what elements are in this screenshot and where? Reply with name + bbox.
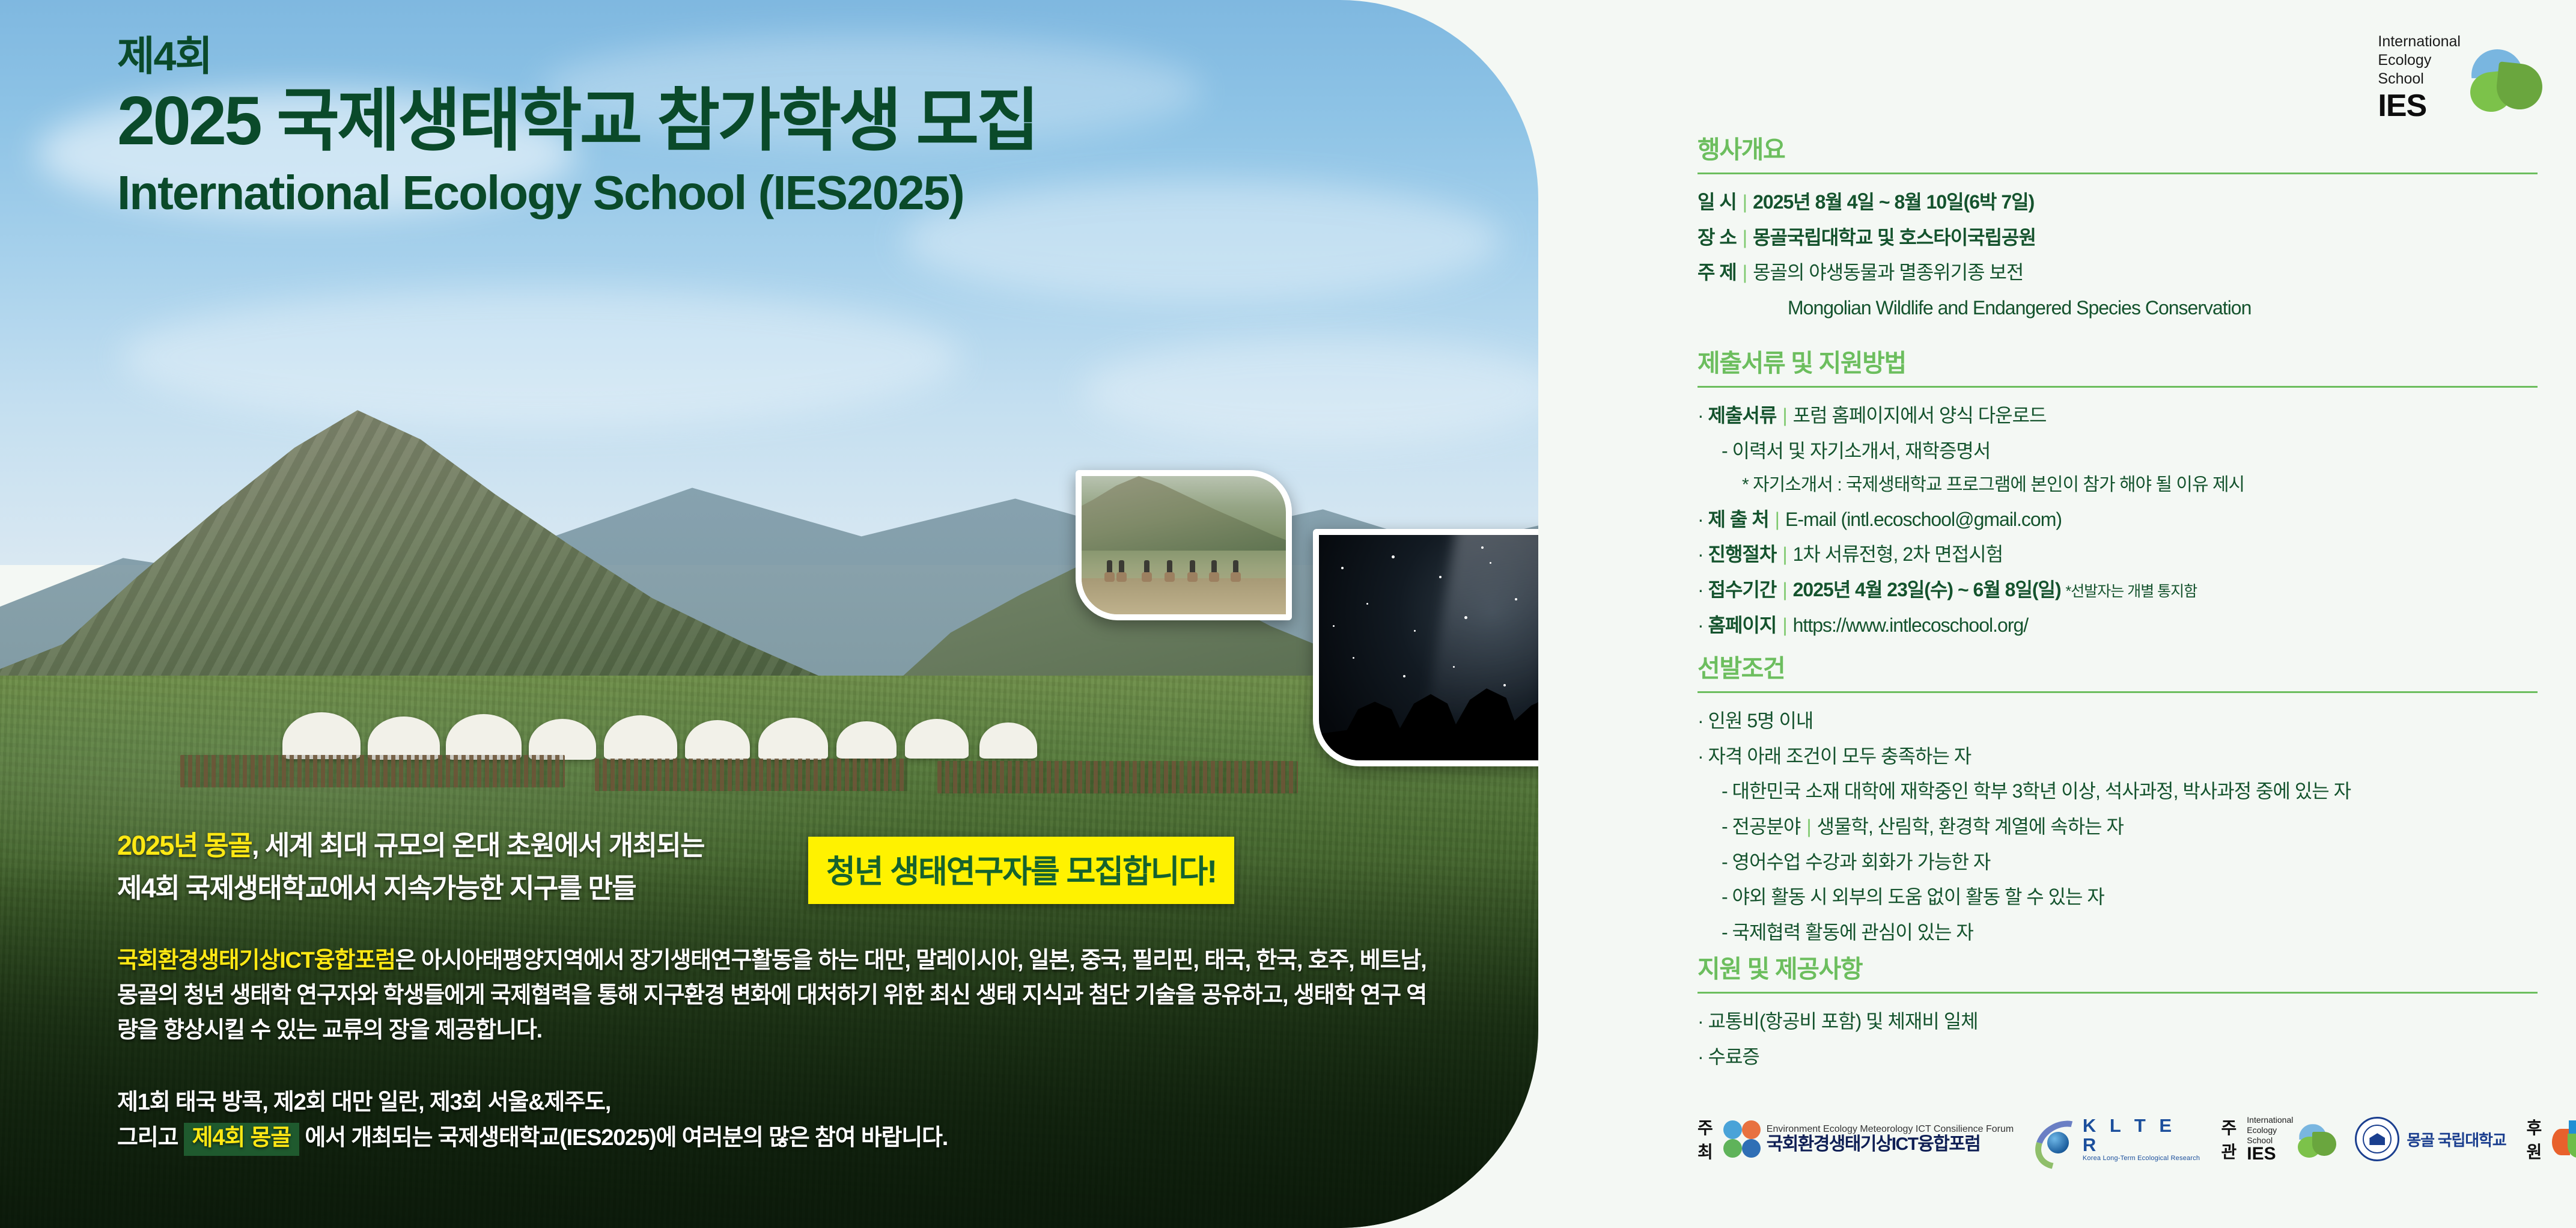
star (1341, 567, 1344, 569)
support-item-certificate: · 수료증 (1698, 1042, 2539, 1072)
footer-label-sponsor: 후원 (2526, 1115, 2541, 1163)
leaf-globe-icon (2297, 1120, 2334, 1158)
overview-label-theme: 주 제 (1698, 261, 1737, 283)
rider-figure (1107, 560, 1112, 578)
star (1403, 675, 1405, 677)
apply-label-submit: 제 출 처 (1708, 509, 1769, 530)
promo-line-2: 제4회 국제생태학교에서 지속가능한 지구를 만들 (117, 866, 1451, 905)
criteria-item-eligibility: · 자격 아래 조건이 모두 충족하는 자 (1698, 742, 2539, 771)
star (1453, 666, 1455, 668)
footer-label-organizer: 주관 (2221, 1115, 2236, 1163)
star (1333, 625, 1335, 627)
rider-figure (1119, 560, 1124, 578)
star (1366, 603, 1368, 605)
ies-footer-abbr: IES (2247, 1145, 2293, 1163)
mnu-name: 몽골 국립대학교 (2407, 1128, 2506, 1150)
forum-circle-icon (1723, 1120, 1761, 1158)
forum-name-english: Environment Ecology Meteorology ICT Cons… (1767, 1124, 2014, 1135)
klter-text: K L T E R Korea Long-Term Ecological Res… (2083, 1116, 2201, 1162)
wooden-fence (937, 761, 1298, 793)
history-paragraph: 제1회 태국 방콕, 제2회 대만 일란, 제3회 서울&제주도, 그리고 제4… (117, 1085, 1427, 1156)
rider-figure (1190, 560, 1195, 578)
star (1481, 546, 1484, 549)
title-edition: 제4회 (117, 36, 1439, 77)
section-title-criteria: 선발조건 (1698, 648, 2539, 684)
title-block: 제4회 2025 국제생태학교 참가학생 모집 International Ec… (117, 36, 1439, 219)
separator: | (1737, 191, 1753, 213)
ies-logo-line1: International (2378, 32, 2461, 51)
star (1490, 562, 1491, 564)
apply-label-documents: 제출서류 (1708, 405, 1777, 426)
section-divider (1698, 173, 2538, 174)
section-title-support: 지원 및 제공사항 (1698, 948, 2539, 985)
star (1414, 630, 1416, 632)
klter-subtitle: Korea Long-Term Ecological Research (2083, 1155, 2201, 1162)
criteria-sub-english: - 영어수업 수강과 회화가 가능한 자 (1698, 848, 2539, 877)
star (1515, 598, 1517, 600)
inset-photo-horseback-riders (1076, 470, 1292, 620)
overview-label-place: 장 소 (1698, 227, 1737, 248)
cloud (1082, 337, 1538, 445)
page-title: 2025 국제생태학교 참가학생 모집 (117, 85, 1439, 158)
criteria-major-label: - 전공분야 (1722, 816, 1800, 837)
ies-footer-line2: Ecology (2247, 1125, 2293, 1135)
edition-chip: 제4회 몽골 (184, 1123, 299, 1156)
separator: | (1737, 227, 1753, 248)
hero-photo-panel: 제4회 2025 국제생태학교 참가학생 모집 International Ec… (0, 0, 1538, 1228)
criteria-item-capacity: · 인원 5명 이내 (1698, 706, 2539, 736)
sponsor-footer: 주최 Environment Ecology Meteorology ICT C… (1698, 1115, 2576, 1163)
logo-mongolia-national-university: 몽골 국립대학교 (2355, 1117, 2506, 1161)
star (1503, 684, 1506, 686)
criteria-sub-cooperation: - 국제협력 활동에 관심이 있는 자 (1698, 918, 2539, 947)
logo-db-insurance: DB손해보험 (2552, 1120, 2576, 1158)
section-apply: 제출서류 및 지원방법 · 제출서류|포럼 홈페이지에서 양식 다운로드 - 이… (1698, 343, 2539, 646)
apply-value-documents: 포럼 홈페이지에서 양식 다운로드 (1793, 405, 2047, 426)
separator: | (1776, 543, 1792, 565)
overview-row-theme: 주 제|몽골의 야생동물과 멸종위기종 보전 (1698, 258, 2539, 287)
apply-period-note: *선발자는 개별 통지함 (2066, 583, 2197, 600)
apply-label-period: 접수기간 (1708, 579, 1777, 600)
overview-row-place: 장 소|몽골국립대학교 및 호스타이국립공원 (1698, 223, 2539, 252)
apply-label-process: 진행절차 (1708, 543, 1777, 565)
promo-line-1-white: , 세계 최대 규모의 온대 초원에서 개최되는 (252, 830, 704, 861)
overview-value-date: 2025년 8월 4일 ~ 8월 10일(6박 7일) (1753, 191, 2034, 213)
info-column: International Ecology School IES 행사개요 일 … (1667, 0, 2576, 1228)
section-title-overview: 행사개요 (1698, 129, 2539, 165)
star (1353, 657, 1354, 659)
leaf-globe-icon (2469, 42, 2539, 112)
apply-row-homepage: · 홈페이지|https://www.intlecoschool.org/ (1698, 611, 2539, 640)
section-divider (1698, 386, 2538, 388)
section-divider (1698, 691, 2538, 693)
separator: | (1776, 579, 1792, 600)
wooden-fence (595, 759, 907, 791)
ies-footer-text: International Ecology School IES (2247, 1115, 2293, 1163)
closing-suffix: 에서 개최되는 국제생태학교(IES2025)에 여러분의 많은 참여 바랍니다… (299, 1125, 948, 1150)
criteria-sub-major: - 전공분야|생물학, 산림학, 환경학 계열에 속하는 자 (1698, 812, 2539, 842)
forum-text: Environment Ecology Meteorology ICT Cons… (1767, 1124, 2014, 1155)
overview-value-place: 몽골국립대학교 및 호스타이국립공원 (1753, 227, 2036, 248)
wooden-fence (180, 755, 565, 787)
klter-name: K L T E R (2083, 1116, 2201, 1155)
criteria-major-value: 생물학, 산림학, 환경학 계열에 속하는 자 (1817, 816, 2124, 837)
section-title-apply: 제출서류 및 지원방법 (1698, 343, 2539, 379)
apply-row-documents: · 제출서류|포럼 홈페이지에서 양식 다운로드 (1698, 401, 2539, 430)
logo-ies-footer: International Ecology School IES (2247, 1115, 2334, 1163)
apply-value-period: 2025년 4월 23일(수) ~ 6월 8일(일) (1793, 579, 2061, 600)
apply-row-period: · 접수기간|2025년 4월 23일(수) ~ 6월 8일(일) *선발자는 … (1698, 575, 2539, 605)
separator: | (1737, 261, 1753, 283)
rider-figure (1167, 560, 1172, 578)
rider-figure (1211, 560, 1217, 578)
inset-photo-stargazers (1313, 529, 1538, 766)
criteria-sub-enrollment: - 대한민국 소재 대학에 재학중인 학부 3학년 이상, 석사과정, 박사과정… (1698, 777, 2539, 806)
cloud (120, 289, 961, 427)
ies-logo-text: International Ecology School IES (2378, 32, 2461, 121)
closing-prefix: 그리고 (117, 1125, 184, 1150)
support-item-travel: · 교통비(항공비 포함) 및 체재비 일체 (1698, 1007, 2539, 1036)
inset-ridge (1076, 470, 1292, 551)
section-overview: 행사개요 일 시|2025년 8월 4일 ~ 8월 10일(6박 7일) 장 소… (1698, 129, 2539, 329)
section-support: 지원 및 제공사항 · 교통비(항공비 포함) 및 체재비 일체 · 수료증 (1698, 948, 2539, 1077)
intro-paragraph: 국회환경생태기상ICT융합포럼은 아시아태평양지역에서 장기생태연구활동을 하는… (117, 944, 1427, 1048)
overview-theme-english: Mongolian Wildlife and Endangered Specie… (1698, 293, 2539, 323)
university-seal-icon (2355, 1117, 2399, 1161)
forum-name-korean: 국회환경생태기상ICT융합포럼 (1767, 1134, 2014, 1154)
apply-label-homepage: 홈페이지 (1708, 614, 1777, 636)
ies-logo: International Ecology School IES (2378, 32, 2539, 121)
overview-value-theme: 몽골의 야생동물과 멸종위기종 보전 (1753, 261, 2023, 283)
section-criteria: 선발조건 · 인원 5명 이내 · 자격 아래 조건이 모두 충족하는 자 - … (1698, 648, 2539, 953)
overview-row-date: 일 시|2025년 8월 4일 ~ 8월 10일(6박 7일) (1698, 188, 2539, 217)
promo-line-1-yellow: 2025년 몽골 (117, 830, 252, 861)
ies-logo-line2: Ecology (2378, 51, 2461, 70)
rider-figure (1233, 560, 1238, 578)
apply-documents-note: * 자기소개서 : 국제생태학교 프로그램에 본인이 참가 해야 될 이유 제시 (1698, 471, 2539, 499)
promo-line-1: 2025년 몽골, 세계 최대 규모의 온대 초원에서 개최되는 (117, 823, 1451, 863)
logo-forum: Environment Ecology Meteorology ICT Cons… (1723, 1120, 2014, 1158)
recruit-badge: 청년 생태연구자를 모집합니다! (808, 837, 1234, 904)
logo-klter: K L T E R Korea Long-Term Ecological Res… (2034, 1116, 2200, 1162)
apply-value-submit: E-mail (intl.ecoschool@gmail.com) (1785, 509, 2062, 530)
apply-value-homepage[interactable]: https://www.intlecoschool.org/ (1793, 614, 2029, 636)
rider-figure (1144, 560, 1149, 578)
ies-logo-abbr: IES (2378, 90, 2461, 121)
criteria-sub-outdoor: - 야외 활동 시 외부의 도움 없이 활동 할 수 있는 자 (1698, 882, 2539, 912)
separator: | (1776, 405, 1792, 426)
star (1392, 555, 1395, 558)
title-english: International Ecology School (IES2025) (117, 166, 1439, 219)
apply-row-process: · 진행절차|1차 서류전형, 2차 면접시험 (1698, 540, 2539, 569)
overview-label-date: 일 시 (1698, 191, 1737, 213)
apply-documents-detail: - 이력서 및 자기소개서, 재학증명서 (1698, 436, 2539, 466)
klter-globe-icon (2034, 1120, 2078, 1158)
footer-label-host: 주최 (1698, 1115, 1713, 1163)
db-petal-icon (2552, 1120, 2576, 1158)
ies-logo-line3: School (2378, 70, 2461, 88)
separator: | (1769, 509, 1785, 530)
star (1464, 616, 1467, 619)
ies-footer-line1: International (2247, 1115, 2293, 1125)
promo-headline: 2025년 몽골, 세계 최대 규모의 온대 초원에서 개최되는 제4회 국제생… (117, 823, 1451, 905)
closing-line: 그리고 제4회 몽골 에서 개최되는 국제생태학교(IES2025)에 여러분의… (117, 1120, 1427, 1156)
history-line: 제1회 태국 방콕, 제2회 대만 일란, 제3회 서울&제주도, (117, 1085, 1427, 1120)
star (1439, 576, 1442, 578)
inset-trail (1082, 578, 1286, 614)
forum-name-highlight: 국회환경생태기상ICT융합포럼 (117, 948, 395, 973)
poster-root: 제4회 2025 국제생태학교 참가학생 모집 International Ec… (0, 0, 2576, 1228)
apply-value-process: 1차 서류전형, 2차 면접시험 (1793, 543, 2003, 565)
separator: | (1800, 816, 1816, 837)
separator: | (1776, 614, 1792, 636)
apply-row-submit: · 제 출 처|E-mail (intl.ecoschool@gmail.com… (1698, 505, 2539, 534)
section-divider (1698, 992, 2538, 994)
